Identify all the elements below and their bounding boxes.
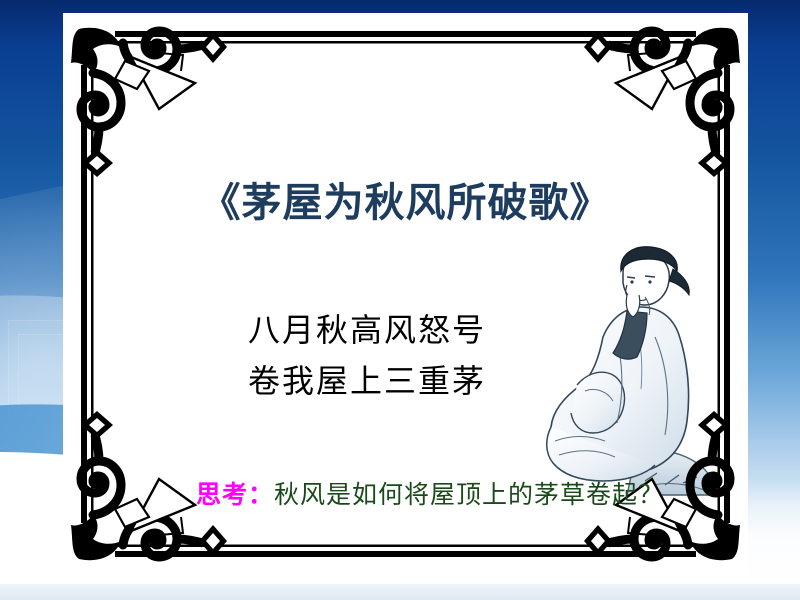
presentation-slide: 《茅屋为秋风所破歌》 八月秋高风怒号 卷我屋上三重茅 思考：秋风是如何将屋顶上的… xyxy=(0,0,800,600)
question-text: 秋风是如何将屋顶上的茅草卷起？ xyxy=(274,480,664,509)
poem-line: 卷我屋上三重茅 xyxy=(248,356,486,407)
background-bottom-bar xyxy=(0,584,800,600)
question-label: 思考： xyxy=(196,480,274,509)
page-title: 《茅屋为秋风所破歌》 xyxy=(63,170,748,228)
poem-body: 八月秋高风怒号 卷我屋上三重茅 xyxy=(248,305,486,406)
slide-content-card: 《茅屋为秋风所破歌》 八月秋高风怒号 卷我屋上三重茅 思考：秋风是如何将屋顶上的… xyxy=(63,13,748,575)
question-prompt: 思考：秋风是如何将屋顶上的茅草卷起？ xyxy=(196,475,664,511)
poem-line: 八月秋高风怒号 xyxy=(248,305,486,356)
slide-text-content: 《茅屋为秋风所破歌》 八月秋高风怒号 卷我屋上三重茅 思考：秋风是如何将屋顶上的… xyxy=(63,13,748,575)
